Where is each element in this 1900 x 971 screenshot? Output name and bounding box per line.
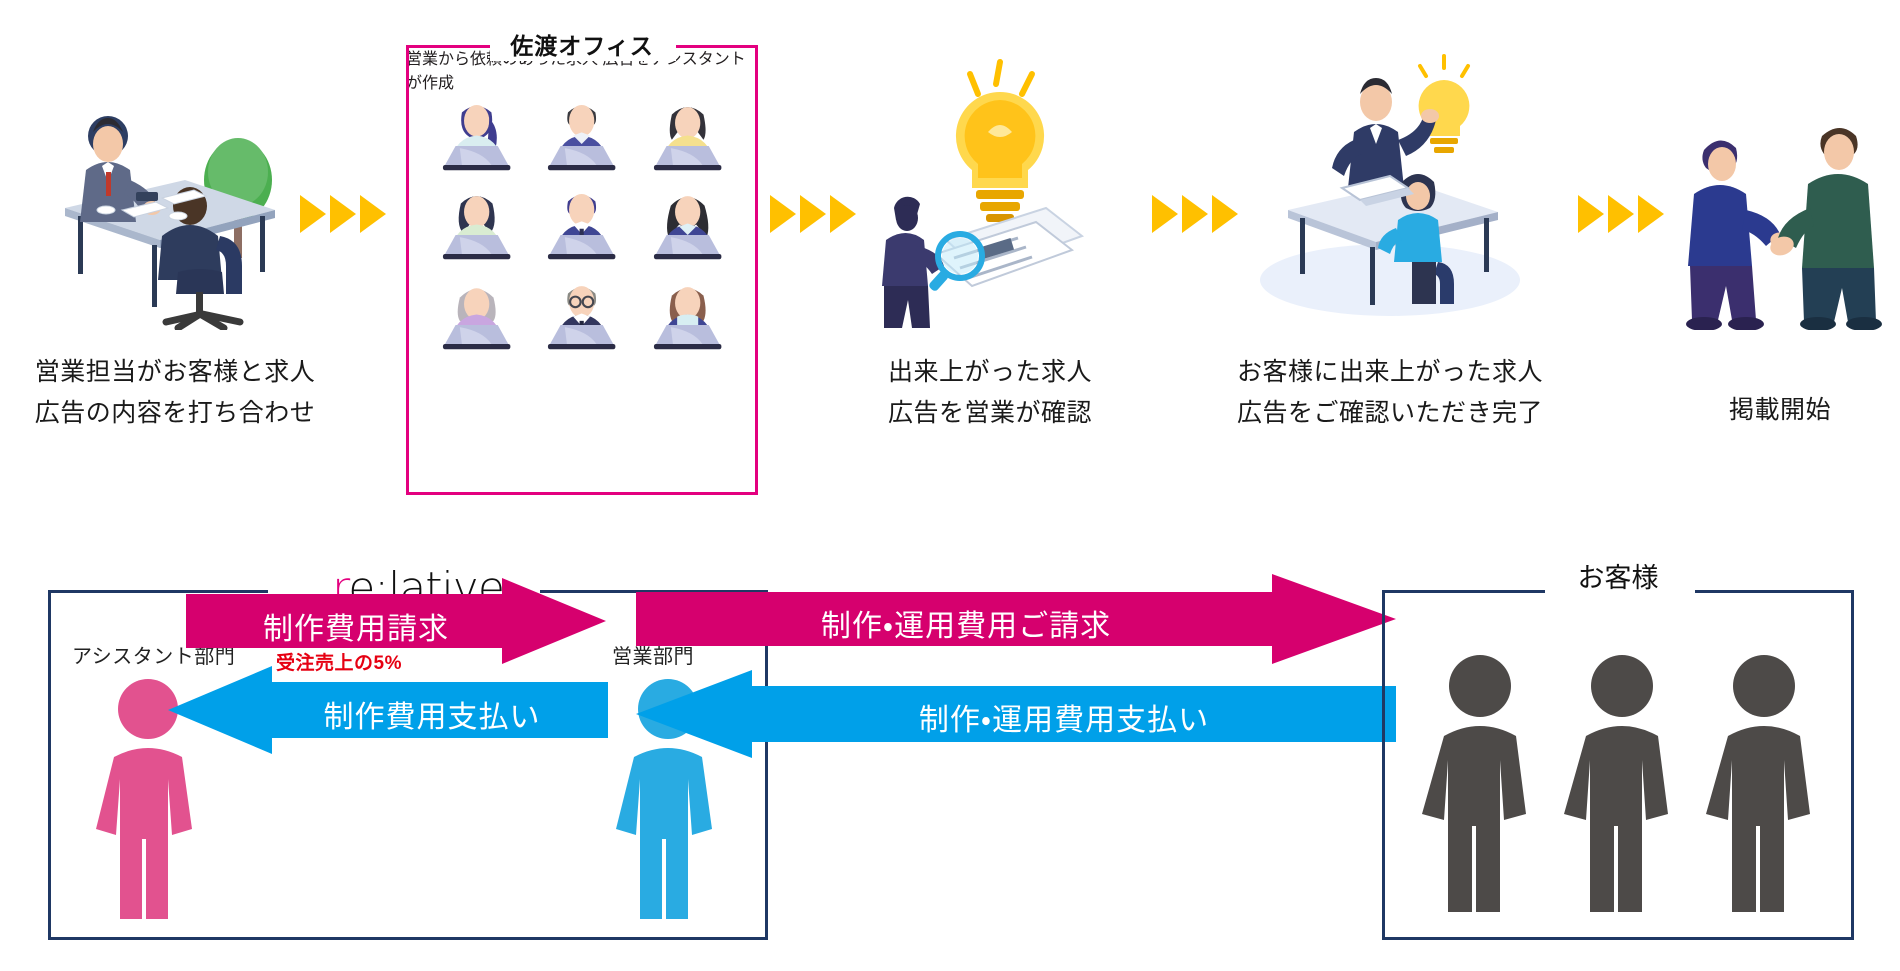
customer-person-pictogram — [1420, 652, 1540, 922]
chevron-right-icon — [300, 195, 326, 233]
flow-step-approval: お客様に出来上がった求人 広告をご確認いただき完了 — [1230, 40, 1550, 460]
flow-step-review: 出来上がった求人 広告を営業が確認 — [850, 40, 1130, 460]
worker-seat — [529, 93, 634, 182]
triple-chevron-right-icon — [1152, 195, 1238, 233]
process-flow-row: 営業担当がお客様と求人 広告の内容を打ち合わせ 佐渡オフィス — [0, 0, 1900, 470]
chevron-right-icon — [1608, 195, 1634, 233]
meeting-illustration — [10, 40, 340, 330]
flow-step-sado-office: 佐渡オフィス — [406, 45, 758, 495]
handshake-illustration — [1660, 40, 1900, 330]
money-flow-section: re:lative アシスタント部門 営業部門 制作費用請求 受注売上の5% 制… — [0, 470, 1900, 971]
worker-seat — [635, 93, 740, 182]
flow-step-caption: お客様に出来上がった求人 広告をご確認いただき完了 — [1230, 352, 1550, 433]
worker-seat — [635, 182, 740, 271]
flow-step-meeting: 営業担当がお客様と求人 広告の内容を打ち合わせ — [10, 40, 340, 460]
worker-seat — [424, 182, 529, 271]
worker-seat — [635, 272, 740, 361]
flow-step-publish: 掲載開始 — [1660, 40, 1900, 460]
arrow-inner-payment: 制作費用支払い — [168, 666, 608, 754]
arrow-label: 制作・運用費用支払い — [684, 695, 1444, 739]
flow-step-caption: 出来上がった求人 広告を営業が確認 — [850, 352, 1130, 433]
chevron-right-icon — [1182, 195, 1208, 233]
customer-person-pictogram — [1562, 652, 1682, 922]
sado-office-title: 佐渡オフィス — [406, 27, 758, 61]
arrow-outer-invoice: 制作・運用費用ご請求 — [636, 574, 1396, 664]
flow-step-caption: 営業担当がお客様と求人 広告の内容を打ち合わせ — [10, 352, 340, 433]
arrow-label: 制作費用支払い — [212, 692, 652, 736]
triple-chevron-right-icon — [770, 195, 856, 233]
worker-seat — [529, 182, 634, 271]
customer-person-pictogram — [1704, 652, 1824, 922]
triple-chevron-right-icon — [300, 195, 386, 233]
worker-seat — [424, 272, 529, 361]
chevron-right-icon — [1578, 195, 1604, 233]
chevron-right-icon — [1152, 195, 1178, 233]
flow-step-caption: 掲載開始 — [1660, 390, 1900, 431]
arrow-label: 制作費用請求 — [146, 604, 566, 648]
worker-seat — [424, 93, 529, 182]
chevron-right-icon — [770, 195, 796, 233]
customer-title: お客様 — [1468, 558, 1768, 598]
document-magnifier-lightbulb — [850, 40, 1130, 330]
chevron-right-icon — [360, 195, 386, 233]
office-workers-grid — [424, 93, 740, 333]
worker-seat — [529, 272, 634, 361]
chevron-right-icon — [330, 195, 356, 233]
client-presentation-illustration — [1230, 40, 1550, 330]
triple-chevron-right-icon — [1578, 195, 1664, 233]
chevron-right-icon — [800, 195, 826, 233]
arrow-label: 制作・運用費用ご請求 — [586, 601, 1346, 645]
arrow-outer-payment: 制作・運用費用支払い — [636, 670, 1396, 758]
